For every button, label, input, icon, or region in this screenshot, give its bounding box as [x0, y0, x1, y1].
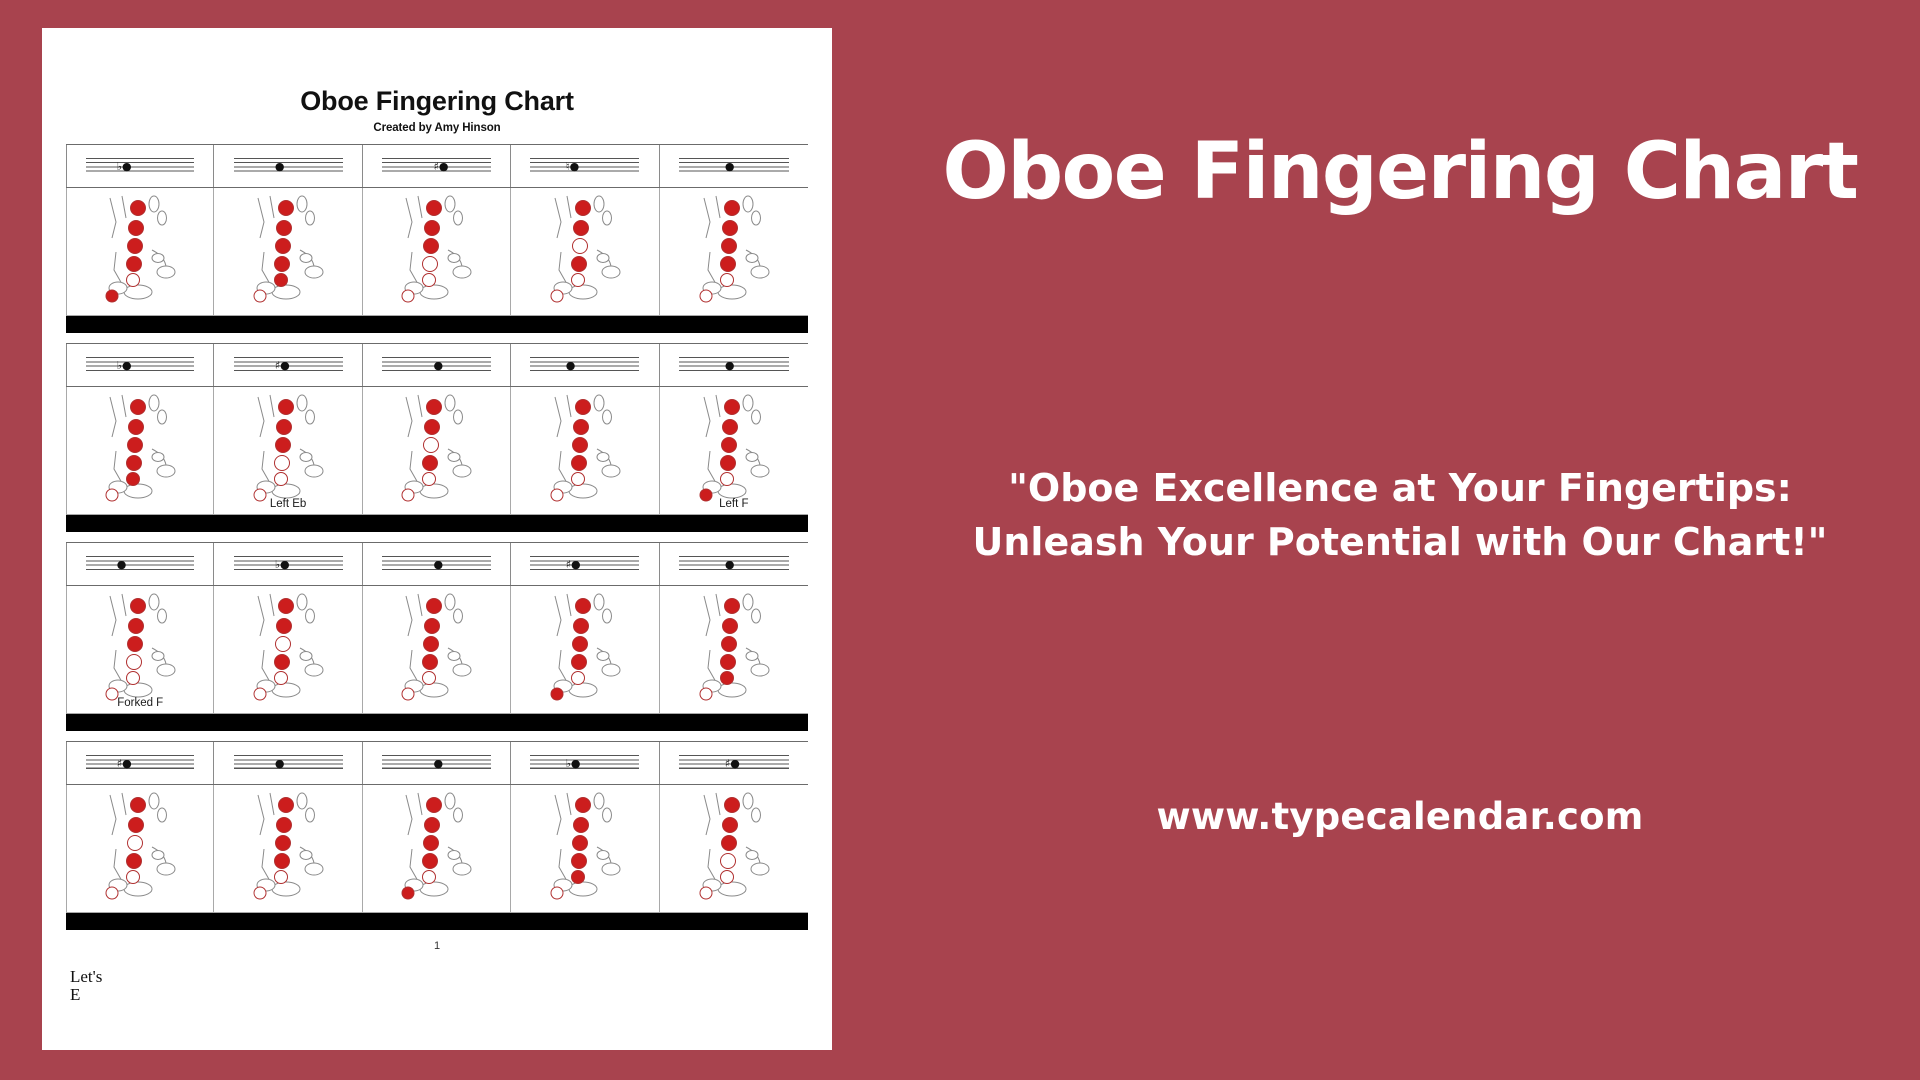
- note-glyph: ♭●: [566, 758, 581, 769]
- oboe-fingering-icon: [686, 789, 782, 906]
- staff-lines: [530, 755, 639, 772]
- oboe-fingering-icon: [388, 789, 484, 906]
- fingering-diagram-cell[interactable]: [511, 586, 659, 714]
- fingering-diagram-cell[interactable]: [660, 785, 808, 913]
- fingering-row: Forked F: [66, 586, 808, 714]
- section-divider-bar: [66, 913, 808, 930]
- staff-row: ♭●♯●●●●: [66, 343, 808, 387]
- document-title: Oboe Fingering Chart: [66, 86, 808, 117]
- oboe-fingering-icon: [537, 391, 633, 508]
- fingering-group: ♭●♯●●●●: [66, 343, 808, 532]
- promo-panel: Oboe Fingering Chart "Oboe Excellence at…: [880, 0, 1920, 1080]
- promo-tagline: "Oboe Excellence at Your Fingertips: Unl…: [920, 462, 1880, 570]
- fingering-groups: ♭●●♯●♮●●: [66, 144, 808, 930]
- fingering-diagram-cell[interactable]: Left F: [660, 387, 808, 515]
- staff-cell: ●: [363, 543, 511, 585]
- fingering-group: ♯●●●♭●♯●: [66, 741, 808, 930]
- oboe-fingering-icon: [537, 590, 633, 707]
- oboe-fingering-icon: [686, 391, 782, 508]
- fingering-diagram-cell[interactable]: Forked F: [66, 586, 214, 714]
- staff-cell: ●: [214, 145, 362, 187]
- staff-cell: ●: [363, 742, 511, 784]
- staff-cell: ●: [660, 543, 808, 585]
- staff-cell: ♮●: [511, 145, 659, 187]
- oboe-fingering-icon: [92, 789, 188, 906]
- promo-tagline-line-1: "Oboe Excellence at Your Fingertips:: [920, 462, 1880, 516]
- fingering-diagram-cell[interactable]: [363, 586, 511, 714]
- bottom-note-line-1: Let's: [70, 968, 102, 986]
- fingering-label: Forked F: [67, 697, 213, 709]
- fingering-row: [66, 785, 808, 913]
- oboe-fingering-icon: [240, 192, 336, 309]
- oboe-fingering-icon: [240, 391, 336, 508]
- staff-row: ●♭●●♯●●: [66, 542, 808, 586]
- note-glyph: ♯●: [275, 360, 290, 371]
- fingering-diagram-cell[interactable]: [66, 387, 214, 515]
- note-glyph: ●: [117, 559, 127, 570]
- note-glyph: ♯●: [725, 758, 740, 769]
- fingering-diagram-cell[interactable]: [214, 188, 362, 316]
- oboe-fingering-icon: [92, 590, 188, 707]
- document-content: Oboe Fingering Chart Created by Amy Hins…: [42, 28, 832, 1050]
- oboe-fingering-icon: [388, 590, 484, 707]
- fingering-group: ♭●●♯●♮●●: [66, 144, 808, 333]
- fingering-diagram-cell[interactable]: [511, 387, 659, 515]
- staff-row: ♭●●♯●♮●●: [66, 144, 808, 188]
- fingering-diagram-cell[interactable]: [363, 785, 511, 913]
- staff-lines: [530, 158, 639, 175]
- staff-lines: [530, 556, 639, 573]
- note-glyph: ●: [275, 758, 285, 769]
- staff-lines: [86, 357, 194, 374]
- staff-lines: [86, 158, 194, 175]
- fingering-diagram-cell[interactable]: [511, 785, 659, 913]
- fingering-row: [66, 188, 808, 316]
- note-glyph: ●: [566, 360, 576, 371]
- fingering-diagram-cell[interactable]: [660, 586, 808, 714]
- fingering-diagram-cell[interactable]: [66, 188, 214, 316]
- document-page-preview[interactable]: Oboe Fingering Chart Created by Amy Hins…: [42, 28, 832, 1050]
- bottom-handwritten-note: Let's E: [70, 968, 102, 1004]
- staff-cell: ●: [214, 742, 362, 784]
- fingering-label: Left Eb: [214, 498, 361, 510]
- staff-lines: [530, 357, 639, 374]
- staff-cell: ♯●: [214, 344, 362, 386]
- staff-cell: ♯●: [660, 742, 808, 784]
- fingering-diagram-cell[interactable]: [214, 785, 362, 913]
- staff-cell: ♭●: [66, 344, 214, 386]
- note-glyph: ●: [725, 360, 735, 371]
- oboe-fingering-icon: [388, 391, 484, 508]
- fingering-diagram-cell[interactable]: [363, 387, 511, 515]
- fingering-diagram-cell[interactable]: [66, 785, 214, 913]
- staff-cell: ●: [66, 543, 214, 585]
- document-byline: Created by Amy Hinson: [66, 122, 808, 134]
- staff-cell: ♯●: [66, 742, 214, 784]
- staff-cell: ♯●: [363, 145, 511, 187]
- fingering-row: Left Eb: [66, 387, 808, 515]
- promo-tagline-line-2: Unleash Your Potential with Our Chart!": [920, 516, 1880, 570]
- oboe-fingering-icon: [240, 590, 336, 707]
- section-divider-bar: [66, 316, 808, 333]
- document-page-number: 1: [66, 940, 808, 952]
- oboe-fingering-icon: [92, 192, 188, 309]
- staff-lines: [86, 755, 194, 772]
- note-glyph: ♮●: [566, 161, 580, 172]
- note-glyph: ●: [434, 360, 444, 371]
- promo-website-url[interactable]: www.typecalendar.com: [880, 795, 1920, 838]
- fingering-label: Left F: [660, 498, 808, 510]
- staff-cell: ♭●: [66, 145, 214, 187]
- note-glyph: ♭●: [275, 559, 290, 570]
- staff-lines: [86, 556, 194, 573]
- promo-title: Oboe Fingering Chart: [880, 132, 1920, 214]
- section-divider-bar: [66, 515, 808, 532]
- note-glyph: ●: [725, 559, 735, 570]
- note-glyph: ●: [725, 161, 735, 172]
- note-glyph: ●: [275, 161, 285, 172]
- fingering-diagram-cell[interactable]: [214, 586, 362, 714]
- oboe-fingering-icon: [388, 192, 484, 309]
- staff-cell: ♯●: [511, 543, 659, 585]
- note-glyph: ♭●: [117, 161, 132, 172]
- section-divider-bar: [66, 714, 808, 731]
- oboe-fingering-icon: [92, 391, 188, 508]
- staff-cell: ●: [511, 344, 659, 386]
- staff-cell: ♭●: [214, 543, 362, 585]
- bottom-note-line-2: E: [70, 986, 102, 1004]
- staff-cell: ●: [660, 344, 808, 386]
- oboe-fingering-icon: [686, 192, 782, 309]
- fingering-diagram-cell[interactable]: [511, 188, 659, 316]
- oboe-fingering-icon: [537, 192, 633, 309]
- fingering-diagram-cell[interactable]: [363, 188, 511, 316]
- note-glyph: ♯●: [566, 559, 581, 570]
- oboe-fingering-icon: [686, 590, 782, 707]
- fingering-diagram-cell[interactable]: [660, 188, 808, 316]
- staff-cell: ●: [660, 145, 808, 187]
- oboe-fingering-icon: [240, 789, 336, 906]
- note-glyph: ♯●: [117, 758, 132, 769]
- oboe-fingering-icon: [537, 789, 633, 906]
- note-glyph: ♯●: [434, 161, 449, 172]
- note-glyph: ●: [434, 559, 444, 570]
- staff-lines: [234, 755, 343, 772]
- staff-cell: ●: [363, 344, 511, 386]
- slide-root: Oboe Fingering Chart Created by Amy Hins…: [0, 0, 1920, 1080]
- staff-cell: ♭●: [511, 742, 659, 784]
- fingering-group: ●♭●●♯●● Forked F: [66, 542, 808, 731]
- fingering-diagram-cell[interactable]: Left Eb: [214, 387, 362, 515]
- note-glyph: ●: [434, 758, 444, 769]
- note-glyph: ♭●: [117, 360, 132, 371]
- staff-row: ♯●●●♭●♯●: [66, 741, 808, 785]
- staff-lines: [234, 158, 343, 175]
